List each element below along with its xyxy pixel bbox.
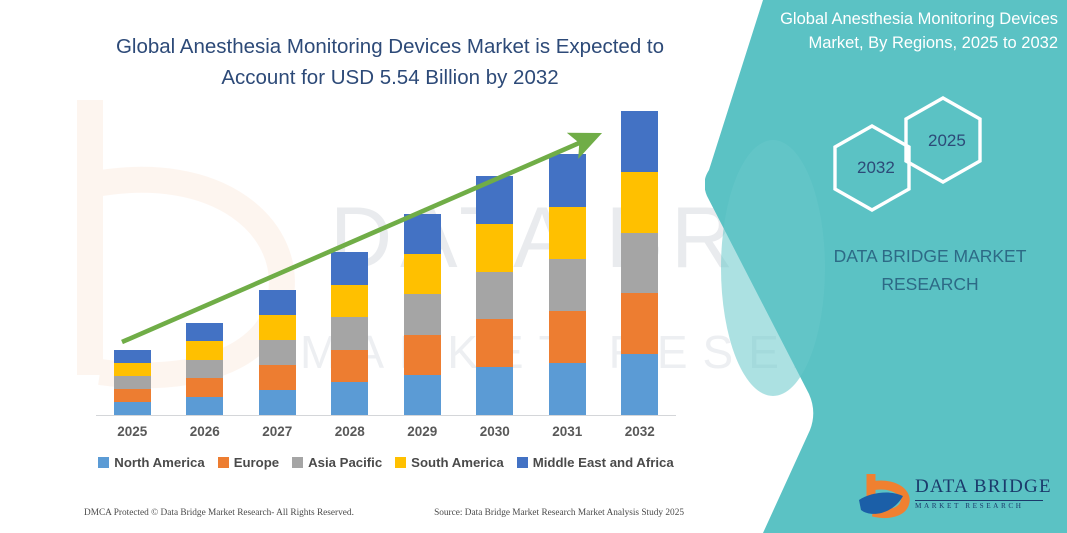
bar-segment[interactable] [259,390,296,415]
legend-item[interactable]: North America [98,455,204,470]
stacked-bar-group [96,100,676,415]
bar-2027[interactable] [259,290,296,415]
infographic-root: DATA BRIDGE MARKET RESEARCH Global Anest… [0,0,1067,533]
legend-label: South America [411,455,504,470]
bar-2031[interactable] [549,154,586,415]
bar-segment[interactable] [186,341,223,359]
legend-item[interactable]: South America [395,455,504,470]
bar-segment[interactable] [114,363,151,376]
panel-brand-text: DATA BRIDGE MARKET RESEARCH [805,242,1055,298]
data-bridge-logo-icon [857,472,915,522]
footer-copyright: DMCA Protected © Data Bridge Market Rese… [84,508,354,518]
logo-divider [915,500,1043,501]
bar-segment[interactable] [621,111,658,172]
legend-item[interactable]: Middle East and Africa [517,455,674,470]
bar-segment[interactable] [186,323,223,341]
bar-segment[interactable] [404,254,441,294]
bar-segment[interactable] [259,290,296,315]
bar-segment[interactable] [476,319,513,367]
legend-swatch-icon [98,457,109,468]
bar-segment[interactable] [621,172,658,233]
logo-text-sub: MARKET RESEARCH [915,502,1024,510]
legend-item[interactable]: Asia Pacific [292,455,382,470]
x-axis-line [96,415,676,416]
legend-label: North America [114,455,204,470]
bar-segment[interactable] [549,207,586,259]
bar-segment[interactable] [259,340,296,365]
legend-swatch-icon [395,457,406,468]
bar-segment[interactable] [404,214,441,254]
bar-segment[interactable] [114,389,151,402]
right-panel: Global Anesthesia Monitoring Devices Mar… [705,0,1067,533]
bar-segment[interactable] [114,350,151,363]
bar-segment[interactable] [259,365,296,390]
chart-title: Global Anesthesia Monitoring Devices Mar… [90,32,690,94]
legend-label: Asia Pacific [308,455,382,470]
hex-2032-label: 2032 [857,158,895,178]
x-axis-tick-2025: 2025 [102,424,162,439]
bar-segment[interactable] [259,315,296,340]
x-axis-tick-2031: 2031 [537,424,597,439]
bar-2026[interactable] [186,323,223,415]
chart-plot-area [96,100,676,416]
bar-segment[interactable] [549,311,586,363]
bar-segment[interactable] [549,259,586,311]
bar-2028[interactable] [331,252,368,415]
bar-segment[interactable] [621,293,658,354]
x-axis-tick-2030: 2030 [465,424,525,439]
x-axis-tick-2027: 2027 [247,424,307,439]
bar-segment[interactable] [331,350,368,383]
panel-title: Global Anesthesia Monitoring Devices Mar… [780,8,1058,56]
bar-segment[interactable] [621,354,658,415]
bar-segment[interactable] [186,360,223,378]
legend-item[interactable]: Europe [218,455,279,470]
bar-segment[interactable] [186,397,223,415]
x-axis-tick-2026: 2026 [175,424,235,439]
hexagon-group: 2025 2032 [810,92,1030,212]
x-axis-tick-2028: 2028 [320,424,380,439]
logo-text-main: DATA BRIDGE [915,476,1052,498]
bar-segment[interactable] [114,376,151,389]
bar-segment[interactable] [331,285,368,318]
bar-segment[interactable] [549,363,586,415]
bar-segment[interactable] [331,382,368,415]
bar-segment[interactable] [331,317,368,350]
bar-segment[interactable] [331,252,368,285]
x-axis-tick-2029: 2029 [392,424,452,439]
legend-swatch-icon [218,457,229,468]
legend-swatch-icon [292,457,303,468]
bar-segment[interactable] [621,233,658,294]
bar-segment[interactable] [114,402,151,415]
bar-segment[interactable] [404,294,441,334]
x-axis-tick-2032: 2032 [610,424,670,439]
bar-2032[interactable] [621,111,658,415]
chart-legend: North AmericaEuropeAsia PacificSouth Ame… [96,455,676,470]
bar-2029[interactable] [404,214,441,415]
bar-2030[interactable] [476,176,513,415]
hex-2025-label: 2025 [928,131,966,151]
bar-segment[interactable] [476,176,513,224]
bar-segment[interactable] [404,375,441,415]
footer: DMCA Protected © Data Bridge Market Rese… [84,508,684,518]
footer-source: Source: Data Bridge Market Research Mark… [434,508,684,518]
legend-swatch-icon [517,457,528,468]
legend-label: Middle East and Africa [533,455,674,470]
bar-segment[interactable] [476,224,513,272]
bar-segment[interactable] [186,378,223,396]
data-bridge-logo: DATA BRIDGE MARKET RESEARCH [857,472,1047,524]
bar-segment[interactable] [476,272,513,320]
x-axis-labels: 20252026202720282029203020312032 [96,424,676,439]
bar-segment[interactable] [476,367,513,415]
bar-segment[interactable] [404,335,441,375]
legend-label: Europe [234,455,279,470]
bar-2025[interactable] [114,350,151,415]
bar-segment[interactable] [549,154,586,206]
